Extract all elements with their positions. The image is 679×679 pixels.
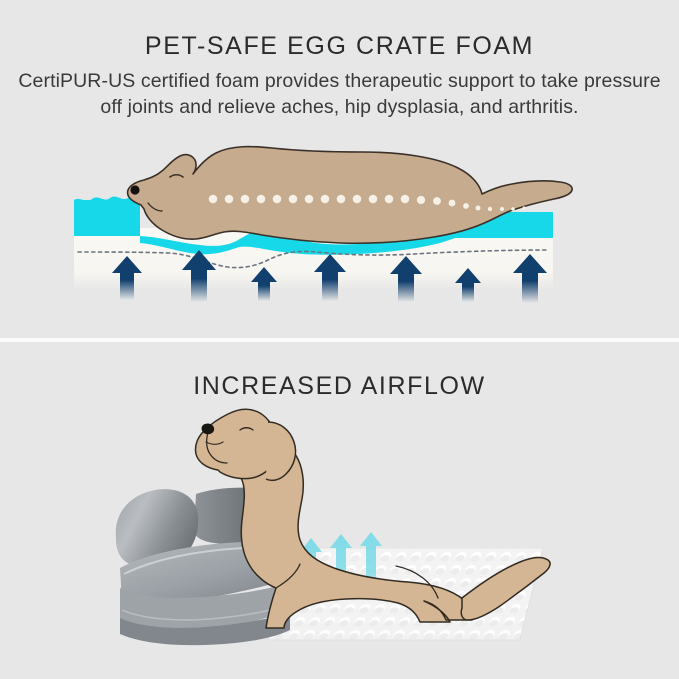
panel-pet-safe-egg-crate-foam: PET-SAFE EGG CRATE FOAM CertiPUR-US cert…	[0, 0, 679, 338]
airflow-bed-illustration: CONTAINS CERTIFIED FLEXIBLE POLYURETHANE…	[0, 342, 679, 679]
dog-head	[195, 409, 277, 478]
foam-cross-section-illustration	[0, 0, 679, 338]
panel-increased-airflow: INCREASED AIRFLOW	[0, 342, 679, 679]
dog-nose	[202, 424, 215, 435]
dog-nose	[130, 185, 139, 194]
